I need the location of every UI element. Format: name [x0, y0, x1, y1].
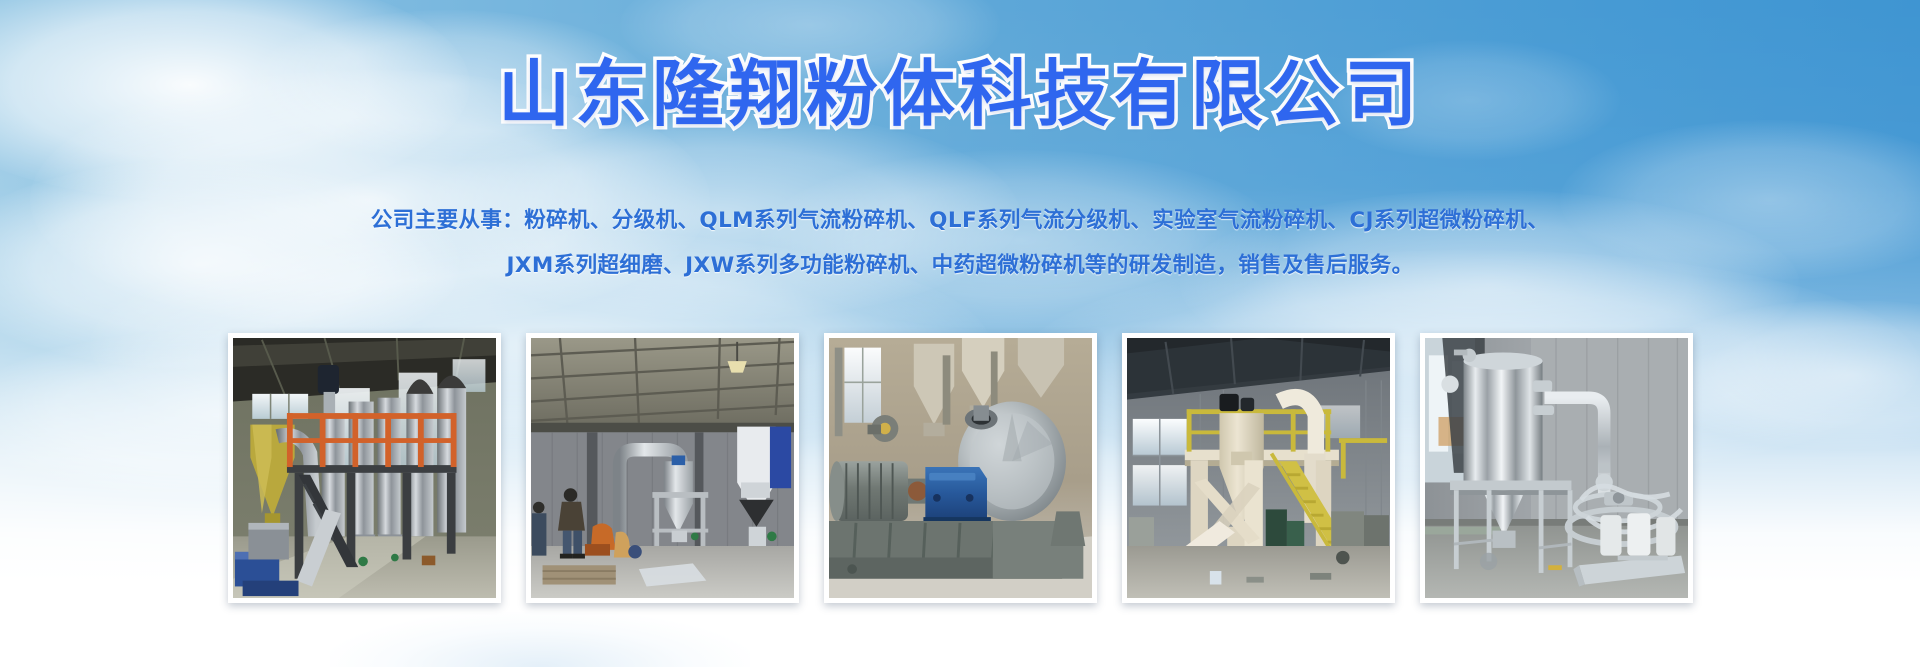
- page-title: 山东隆翔粉体科技有限公司: [498, 58, 1422, 130]
- product-photo-gallery: [0, 333, 1920, 603]
- photo-4-illustration: [1127, 338, 1390, 598]
- gallery-photo-5[interactable]: [1420, 333, 1693, 603]
- photo-2-illustration: [531, 338, 794, 598]
- intro-line-1: 公司主要从事：粉碎机、分级机、QLM系列气流粉碎机、QLF系列气流分级机、实验室…: [0, 198, 1920, 243]
- gallery-photo-1[interactable]: [228, 333, 501, 603]
- photo-3-illustration: [829, 338, 1092, 598]
- page-title-container: 山东隆翔粉体科技有限公司: [0, 58, 1920, 130]
- company-intro-text: 公司主要从事：粉碎机、分级机、QLM系列气流粉碎机、QLF系列气流分级机、实验室…: [0, 198, 1920, 288]
- gallery-photo-2[interactable]: [526, 333, 799, 603]
- bottom-white-area: [0, 600, 1920, 667]
- gallery-photo-4[interactable]: [1122, 333, 1395, 603]
- intro-line-2: JXM系列超细磨、JXW系列多功能粉碎机、中药超微粉碎机等的研发制造，销售及售后…: [0, 243, 1920, 288]
- photo-1-illustration: [233, 338, 496, 598]
- photo-5-illustration: [1425, 338, 1688, 598]
- gallery-photo-3[interactable]: [824, 333, 1097, 603]
